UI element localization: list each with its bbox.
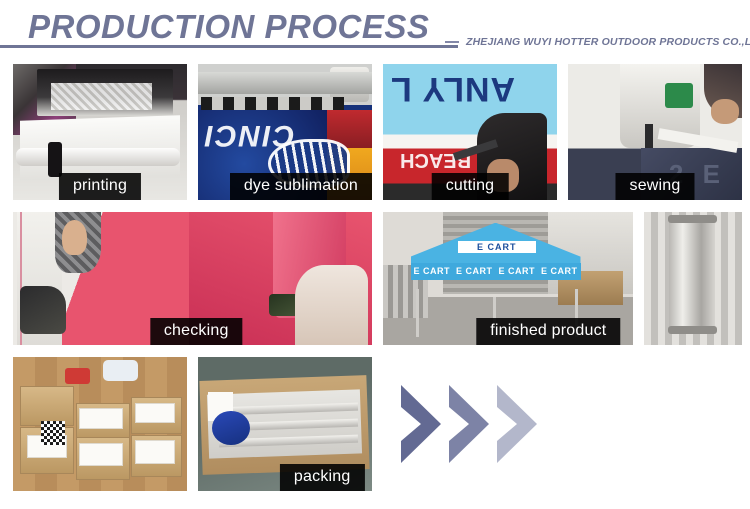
photo-checking[interactable]: checking — [13, 212, 372, 345]
photo-printing[interactable]: printing — [13, 64, 187, 200]
chevron-right-icon-2 — [445, 381, 497, 467]
tent-valance-band: E CART E CART E CART E CART — [411, 263, 581, 280]
photo-packing-contents[interactable]: packing — [198, 357, 372, 491]
chevron-right-icon-3 — [493, 381, 545, 467]
process-row-2: checking E CART E CART E CART E CART E C… — [13, 212, 737, 345]
company-name: ZHEJIANG WUYI HOTTER OUTDOOR PRODUCTS CO… — [466, 36, 750, 48]
caption-packing: packing — [280, 464, 365, 491]
page-title: PRODUCTION PROCESS — [28, 8, 429, 46]
process-row-3: packing — [13, 357, 737, 491]
company-name-line: ZHEJIANG WUYI HOTTER OUTDOOR PRODUCTS CO… — [445, 36, 750, 48]
caption-checking: checking — [150, 318, 243, 345]
photo-sewing[interactable]: 2 E sewing — [568, 64, 742, 200]
caption-finished-product: finished product — [476, 318, 620, 345]
cutting-overlay-text: ANLY L — [390, 69, 515, 108]
valance-logo-2: E CART — [456, 266, 493, 276]
process-photo-grid: printing CINCI dye sublimation ANLY L BE… — [13, 64, 737, 503]
process-row-1: printing CINCI dye sublimation ANLY L BE… — [13, 64, 737, 200]
process-arrow-group — [383, 357, 673, 491]
dash-left-icon — [445, 41, 459, 43]
tent-logo-text: E CART — [458, 241, 536, 253]
valance-logo-1: E CART — [414, 266, 451, 276]
photo-finished-product[interactable]: E CART E CART E CART E CART E CART finis… — [383, 212, 633, 345]
caption-dye-sublimation: dye sublimation — [230, 173, 372, 200]
caption-sewing: sewing — [615, 173, 694, 200]
caption-cutting: cutting — [432, 173, 509, 200]
title-underline-rule — [0, 45, 458, 48]
packing-boxes-artwork — [13, 357, 187, 491]
photo-cutting[interactable]: ANLY L BEACH cutting — [383, 64, 557, 200]
caption-printing: printing — [59, 173, 141, 200]
chevron-right-icon-1 — [397, 381, 449, 467]
folded-frame-artwork — [644, 212, 742, 345]
photo-frame-detail[interactable] — [644, 212, 742, 345]
photo-packing-boxes[interactable] — [13, 357, 187, 491]
photo-dye-sublimation[interactable]: CINCI dye sublimation — [198, 64, 372, 200]
valance-logo-4: E CART — [541, 266, 578, 276]
page-header: PRODUCTION PROCESS ZHEJIANG WUYI HOTTER … — [0, 0, 750, 58]
valance-logo-3: E CART — [499, 266, 536, 276]
